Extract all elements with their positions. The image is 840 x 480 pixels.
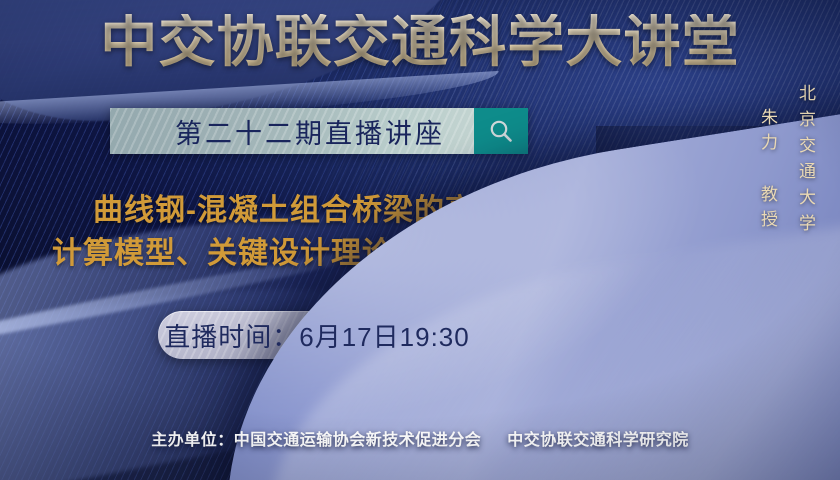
main-title: 中交协联交通科学大讲堂 bbox=[0, 14, 840, 70]
footer: 主办单位：中国交通运输协会新技术促进分会中交协联交通科学研究院 bbox=[0, 426, 840, 450]
speaker-affiliation: 北京交通大学 bbox=[793, 84, 818, 240]
footer-organizer-2: 中交协联交通科学研究院 bbox=[507, 432, 689, 449]
subtitle-text: 第二十二期直播讲座 bbox=[139, 112, 445, 151]
subtitle-bar-body: 第二十二期直播讲座 bbox=[110, 108, 474, 154]
subtitle-bar: 第二十二期直播讲座 bbox=[110, 108, 528, 154]
broadcast-time-text: 直播时间：6月17日19:30 bbox=[164, 317, 469, 354]
search-icon-box[interactable] bbox=[474, 108, 528, 154]
search-icon bbox=[487, 117, 515, 145]
speaker-title: 教授 bbox=[755, 185, 780, 235]
speaker-name: 朱力 bbox=[755, 108, 780, 158]
webinar-poster: 中交协联交通科学大讲堂 中交协联交通科学大讲堂 第二十二期直播讲座 曲线钢-混凝… bbox=[0, 0, 840, 480]
footer-label: 主办单位： bbox=[151, 432, 234, 449]
broadcast-time-pill: 直播时间：6月17日19:30 bbox=[158, 311, 476, 359]
footer-organizer-1: 中国交通运输协会新技术促进分会 bbox=[234, 432, 482, 449]
